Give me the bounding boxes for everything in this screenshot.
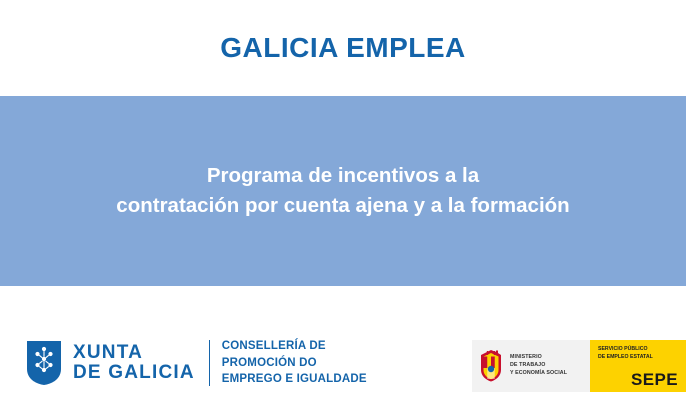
xunta-de-galicia-logo: XUNTA DE GALICIA CONSELLERÍA DE PROMOCIÓ… bbox=[24, 338, 367, 388]
conselleria-line-1: CONSELLERÍA DE bbox=[222, 338, 367, 355]
xunta-word-line-2: DE GALICIA bbox=[73, 363, 195, 383]
conselleria-line-2: PROMOCIÓN DO bbox=[222, 355, 367, 372]
government-logos: MINISTERIO DE TRABAJO Y ECONOMÍA SOCIAL … bbox=[472, 340, 686, 392]
logo-divider bbox=[209, 340, 210, 386]
ministerio-line-2: DE TRABAJO bbox=[510, 362, 567, 370]
sepe-logo: SERVICIO PÚBLICO DE EMPLEO ESTATAL SEPE bbox=[590, 340, 686, 392]
banner-line-1: Programa de incentivos a la bbox=[207, 161, 479, 191]
spacer bbox=[0, 286, 686, 324]
xunta-shield-icon bbox=[24, 339, 64, 387]
sepe-acronym: SEPE bbox=[598, 371, 678, 388]
page-title: GALICIA EMPLEA bbox=[220, 32, 466, 64]
banner-line-2: contratación por cuenta ajena y a la for… bbox=[116, 191, 569, 221]
footer-logos: XUNTA DE GALICIA CONSELLERÍA DE PROMOCIÓ… bbox=[0, 324, 686, 410]
xunta-word-line-1: XUNTA bbox=[73, 343, 195, 363]
sepe-description: SERVICIO PÚBLICO DE EMPLEO ESTATAL bbox=[598, 346, 678, 361]
poster-page: GALICIA EMPLEA Programa de incentivos a … bbox=[0, 0, 686, 410]
program-banner: Programa de incentivos a la contratación… bbox=[0, 96, 686, 286]
sepe-line-1: SERVICIO PÚBLICO bbox=[598, 346, 678, 354]
ministerio-line-1: MINISTERIO bbox=[510, 354, 567, 362]
spain-coat-of-arms-icon bbox=[478, 349, 504, 383]
ministerio-line-3: Y ECONOMÍA SOCIAL bbox=[510, 370, 567, 378]
sepe-line-2: DE EMPLEO ESTATAL bbox=[598, 354, 678, 362]
title-section: GALICIA EMPLEA bbox=[0, 0, 686, 96]
conselleria-text: CONSELLERÍA DE PROMOCIÓN DO EMPREGO E IG… bbox=[222, 338, 367, 388]
ministerio-logo: MINISTERIO DE TRABAJO Y ECONOMÍA SOCIAL bbox=[472, 340, 590, 392]
conselleria-line-3: EMPREGO E IGUALDADE bbox=[222, 371, 367, 388]
ministerio-text: MINISTERIO DE TRABAJO Y ECONOMÍA SOCIAL bbox=[510, 354, 567, 378]
xunta-wordmark: XUNTA DE GALICIA bbox=[73, 343, 195, 383]
